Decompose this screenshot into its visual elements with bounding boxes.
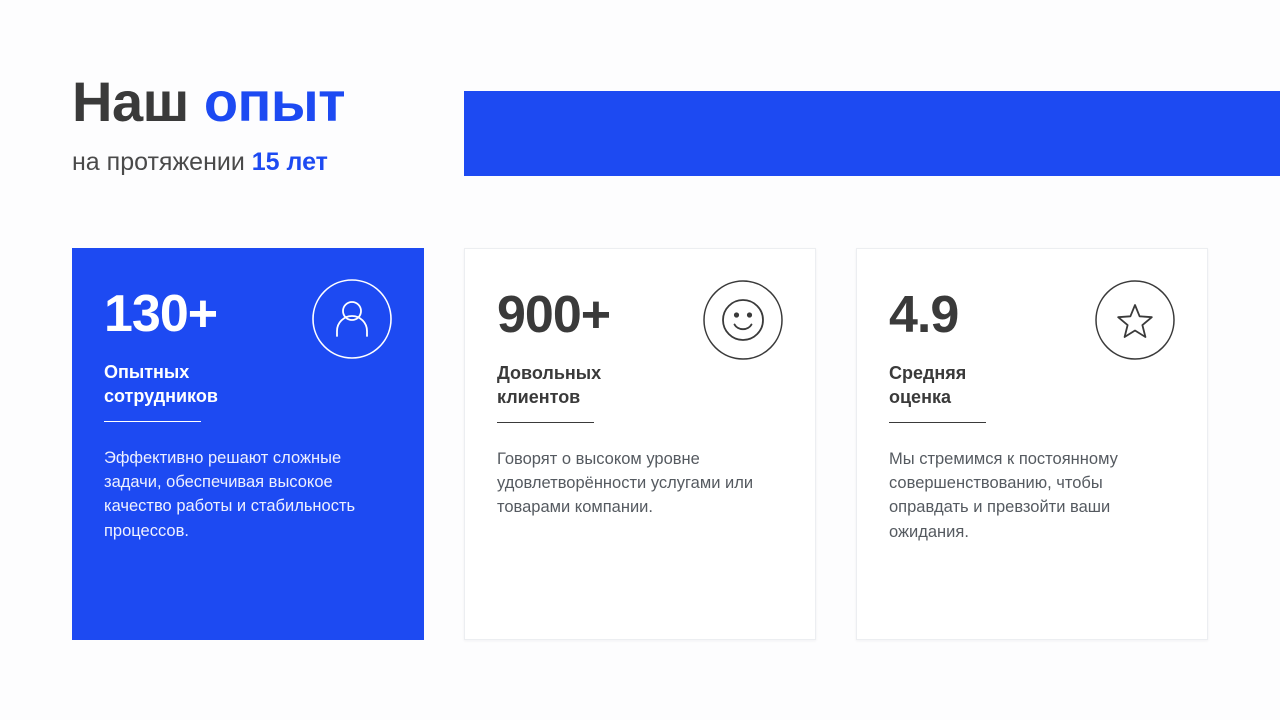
- stat-label: Опытных сотрудников: [104, 361, 392, 409]
- stats-card-row: 130+ Опытных сотрудников Эффективно реша…: [72, 248, 1208, 640]
- page-title-accent: опыт: [204, 70, 345, 133]
- page-subtitle-accent: 15 лет: [252, 148, 328, 176]
- stat-label-line2: клиентов: [497, 387, 580, 407]
- stat-label: Довольных клиентов: [497, 362, 783, 410]
- stat-label: Средняя оценка: [889, 362, 1175, 410]
- stat-card-rating[interactable]: 4.9 Средняя оценка Мы стремимся к постоя…: [856, 248, 1208, 640]
- stat-card-employees[interactable]: 130+ Опытных сотрудников Эффективно реша…: [72, 248, 424, 640]
- card-divider: [889, 422, 986, 423]
- card-divider: [497, 422, 594, 423]
- page-subtitle-plain: на протяжении: [72, 148, 245, 176]
- stat-label-line2: сотрудников: [104, 386, 218, 406]
- person-icon: [312, 279, 392, 359]
- card-divider: [104, 421, 201, 422]
- stat-description: Говорят о высоком уровне удовлетворённос…: [497, 447, 783, 520]
- stat-label-line1: Средняя: [889, 363, 966, 383]
- page-title: Наш опыт: [72, 74, 472, 130]
- stat-label-line1: Опытных: [104, 362, 189, 382]
- stat-label-line1: Довольных: [497, 363, 601, 383]
- stat-card-clients[interactable]: 900+ Довольных клиентов Говорят о высоко…: [464, 248, 816, 640]
- page-title-plain: Наш: [72, 70, 189, 133]
- smiley-icon: [703, 280, 783, 360]
- star-icon: [1095, 280, 1175, 360]
- banner-block: [464, 91, 1280, 176]
- stat-description: Мы стремимся к постоянному совершенствов…: [889, 447, 1175, 545]
- stat-description: Эффективно решают сложные задачи, обеспе…: [104, 446, 392, 544]
- stat-label-line2: оценка: [889, 387, 951, 407]
- page-header: Наш опыт на протяжении 15 лет: [72, 74, 472, 177]
- page-subtitle: на протяжении 15 лет: [72, 148, 472, 177]
